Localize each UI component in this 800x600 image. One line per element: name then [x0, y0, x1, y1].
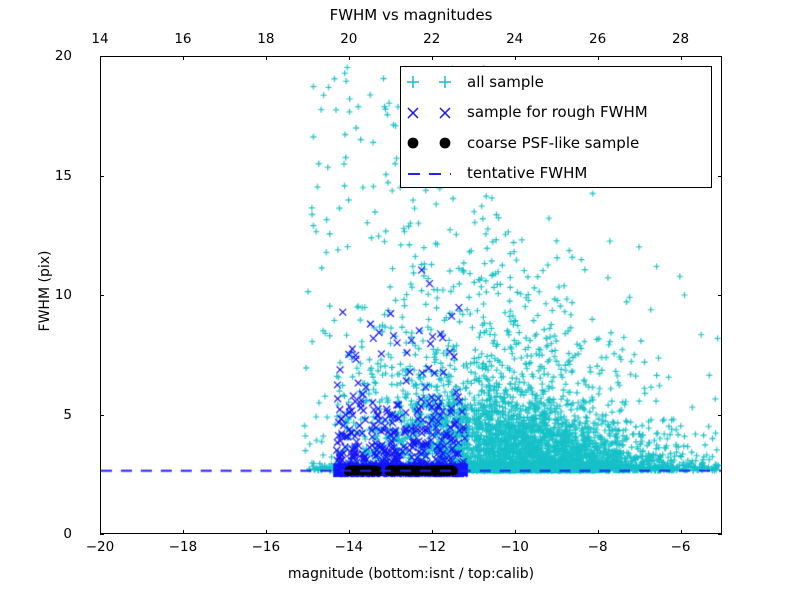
chart-legend[interactable]: all sample sample for rough FWHM [400, 66, 712, 188]
dot-marker-icon [401, 130, 467, 156]
x-tick-label-top: 18 [257, 31, 274, 47]
figure-canvas: FWHM vs magnitudes −20−18−16−14−12−10−8−… [0, 0, 800, 600]
y-tick-label: 5 [63, 407, 72, 423]
y-tick-mark-left [100, 56, 104, 57]
legend-label: coarse PSF-like sample [467, 136, 639, 151]
legend-item-rough-fwhm[interactable]: sample for rough FWHM [401, 98, 711, 129]
y-tick-mark-right [718, 534, 722, 535]
x-tick-label-top: 24 [506, 31, 523, 47]
y-tick-mark-left [100, 295, 104, 296]
x-tick-label-bottom: −20 [86, 539, 115, 555]
x-tick-label-bottom: −6 [671, 539, 691, 555]
x-tick-mark-bottom [349, 530, 350, 534]
x-tick-mark-top [349, 56, 350, 60]
legend-label: all sample [467, 75, 544, 90]
legend-item-psf-sample[interactable]: coarse PSF-like sample [401, 128, 711, 159]
y-tick-label: 15 [55, 168, 72, 184]
y-axis-label: FWHM (pix) [37, 151, 53, 431]
y-tick-mark-left [100, 415, 104, 416]
x-tick-mark-bottom [266, 530, 267, 534]
y-tick-mark-left [100, 534, 104, 535]
x-tick-label-top: 26 [589, 31, 606, 47]
x-tick-mark-bottom [432, 530, 433, 534]
x-marker-icon [401, 100, 467, 126]
x-axis-label: magnitude (bottom:isnt / top:calib) [100, 566, 722, 582]
x-tick-label-bottom: −8 [588, 539, 608, 555]
x-tick-mark-top [183, 56, 184, 60]
dashed-line-icon [401, 161, 467, 187]
x-tick-mark-top [432, 56, 433, 60]
y-tick-mark-right [718, 415, 722, 416]
legend-item-all-sample[interactable]: all sample [401, 67, 711, 98]
x-tick-mark-top [598, 56, 599, 60]
x-tick-label-top: 14 [91, 31, 108, 47]
chart-title: FWHM vs magnitudes [100, 6, 722, 24]
x-tick-label-top: 16 [174, 31, 191, 47]
y-tick-mark-left [100, 176, 104, 177]
x-tick-mark-top [266, 56, 267, 60]
x-tick-label-top: 28 [672, 31, 689, 47]
y-tick-label: 0 [63, 526, 72, 542]
y-tick-label: 10 [55, 287, 72, 303]
x-tick-mark-top [515, 56, 516, 60]
x-tick-label-bottom: −10 [500, 539, 529, 555]
y-tick-mark-right [718, 176, 722, 177]
y-tick-mark-right [718, 295, 722, 296]
y-tick-mark-right [718, 56, 722, 57]
plus-marker-icon [401, 69, 467, 95]
x-tick-label-top: 22 [423, 31, 440, 47]
x-tick-mark-bottom [598, 530, 599, 534]
x-tick-mark-bottom [183, 530, 184, 534]
x-tick-mark-bottom [681, 530, 682, 534]
x-tick-label-bottom: −18 [169, 539, 198, 555]
legend-item-tentative-fwhm[interactable]: tentative FWHM [401, 159, 711, 190]
x-tick-label-top: 20 [340, 31, 357, 47]
y-tick-label: 20 [55, 48, 72, 64]
x-tick-mark-top [681, 56, 682, 60]
x-tick-label-bottom: −16 [252, 539, 281, 555]
legend-label: tentative FWHM [467, 166, 587, 181]
x-tick-mark-bottom [515, 530, 516, 534]
x-tick-label-bottom: −14 [335, 539, 364, 555]
legend-label: sample for rough FWHM [467, 105, 648, 120]
x-tick-label-bottom: −12 [417, 539, 446, 555]
